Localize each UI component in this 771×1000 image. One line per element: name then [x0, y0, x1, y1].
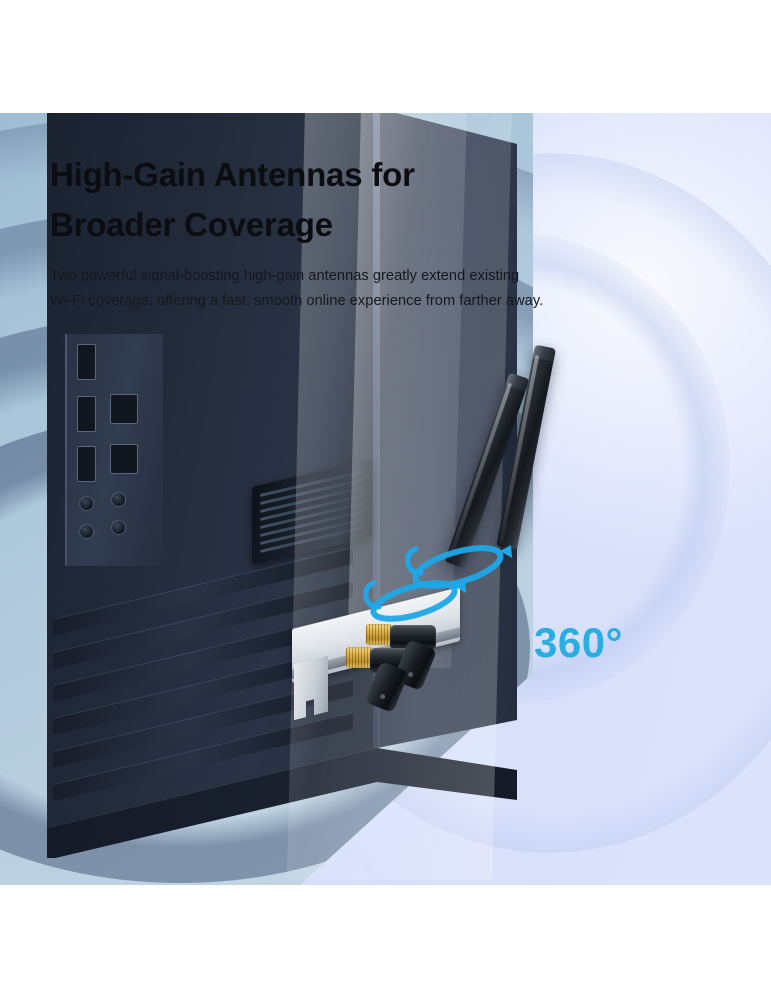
io-audio-jack-3	[79, 524, 94, 539]
headline-line-1: High-Gain Antennas for	[50, 156, 415, 193]
io-audio-jack-1	[79, 496, 94, 511]
io-port-hdmi-1	[110, 394, 138, 424]
page-title: High-Gain Antennas for Broader Coverage	[50, 150, 720, 250]
io-port-hdmi-2	[110, 444, 138, 474]
io-audio-jack-4	[111, 520, 126, 535]
description-line-1: Two powerful signal-boosting high-gain a…	[50, 268, 519, 284]
io-audio-jack-2	[111, 492, 126, 507]
io-port-usb-1	[77, 344, 96, 380]
io-port-usb-3	[77, 446, 96, 482]
bracket-mounting-tab	[294, 656, 328, 720]
rotation-degree-label: 360°	[534, 619, 623, 667]
io-port-usb-2	[77, 396, 96, 432]
description-line-2: Wi-Fi coverage, offering a fast, smooth …	[50, 293, 543, 309]
banner-description: Two powerful signal-boosting high-gain a…	[50, 264, 690, 314]
banner-stage: 360° High-Gain Antennas for Broader Cove…	[0, 0, 771, 1000]
banner-copy: High-Gain Antennas for Broader Coverage …	[50, 150, 720, 314]
headline-line-2: Broader Coverage	[50, 206, 333, 243]
rear-io-panel	[65, 334, 163, 566]
